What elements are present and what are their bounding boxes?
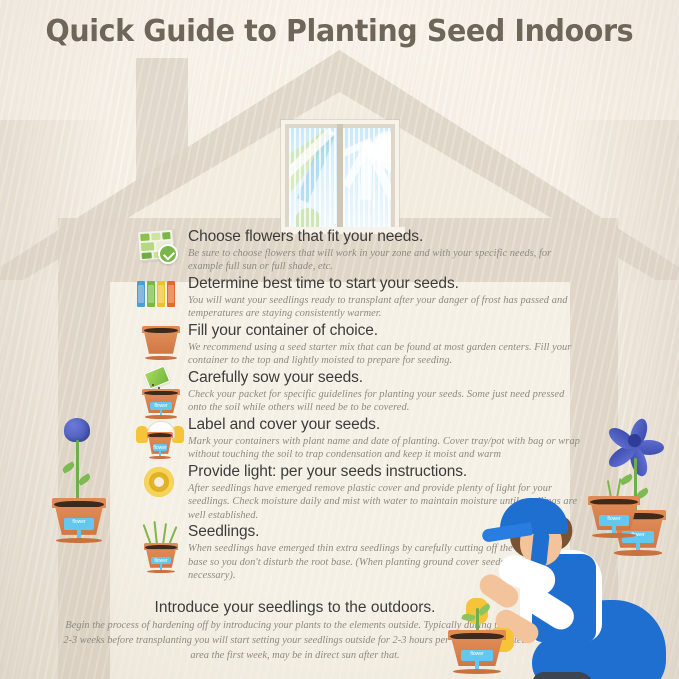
step-body: You will want your seedlings ready to tr… bbox=[188, 294, 584, 321]
open-blue-flower-icon bbox=[606, 424, 662, 462]
infographic-poster: Quick Guide to Planting Seed Indoors bbox=[0, 0, 679, 679]
step-body: Mark your containers with plant name and… bbox=[188, 435, 584, 462]
kneeling-gardener-illustration: flower flower bbox=[436, 488, 679, 679]
covered-pot-with-gloves-icon: flower bbox=[136, 416, 184, 460]
step-heading: Carefully sow your seeds. bbox=[188, 369, 584, 388]
window-pane-left bbox=[289, 128, 337, 228]
seedling-pot-icon: flower bbox=[136, 523, 184, 575]
gardener-planting-pot: flower bbox=[444, 602, 514, 674]
window-pane-right bbox=[343, 128, 391, 228]
seed-catalog-icon bbox=[136, 228, 184, 272]
sunlit-window-icon bbox=[281, 120, 399, 232]
step-item-choose-flowers: Choose flowers that fit your needs. Be s… bbox=[136, 228, 584, 274]
seed-packet-icon bbox=[144, 365, 171, 389]
left-flower-pot-illustration: flower bbox=[44, 418, 112, 543]
step-heading: Fill your container of choice. bbox=[188, 322, 584, 341]
seed-packet-sowing-icon: flower bbox=[136, 369, 184, 419]
blue-bell-flower-icon bbox=[64, 418, 90, 442]
window-blind-left bbox=[289, 128, 337, 228]
step-heading: Label and cover your seeds. bbox=[188, 416, 584, 435]
step-item-label-cover: flower Label and cover your seeds. Mark … bbox=[136, 416, 584, 462]
step-body: We recommend using a seed starter mix th… bbox=[188, 341, 584, 368]
window-mullion bbox=[337, 124, 343, 228]
step-body: Be sure to choose flowers that will work… bbox=[188, 247, 584, 274]
left-pot: flower bbox=[52, 498, 106, 543]
approved-badge-icon bbox=[158, 244, 178, 264]
step-item-fill-container: Fill your container of choice. We recomm… bbox=[136, 322, 584, 368]
step-heading: Choose flowers that fit your needs. bbox=[188, 228, 584, 247]
page-title: Quick Guide to Planting Seed Indoors bbox=[46, 14, 634, 49]
filled-pot-icon bbox=[136, 322, 184, 366]
window-blind-right bbox=[343, 128, 391, 228]
four-seasons-calendar-icon bbox=[136, 275, 184, 319]
sun-light-icon bbox=[136, 463, 184, 507]
step-item-sow-seeds: flower Carefully sow your seeds. Check y… bbox=[136, 369, 584, 415]
gardener-shoe-front bbox=[532, 672, 594, 679]
step-body: Check your packet for specific guideline… bbox=[188, 388, 584, 415]
step-heading: Provide light: per your seeds instructio… bbox=[188, 463, 584, 482]
left-wall-shading bbox=[0, 120, 120, 679]
step-heading: Determine best time to start your seeds. bbox=[188, 275, 584, 294]
step-item-determine-time: Determine best time to start your seeds.… bbox=[136, 275, 584, 321]
background-seedling-pot: flower bbox=[588, 496, 640, 538]
poster-title-container: Quick Guide to Planting Seed Indoors bbox=[0, 14, 679, 49]
